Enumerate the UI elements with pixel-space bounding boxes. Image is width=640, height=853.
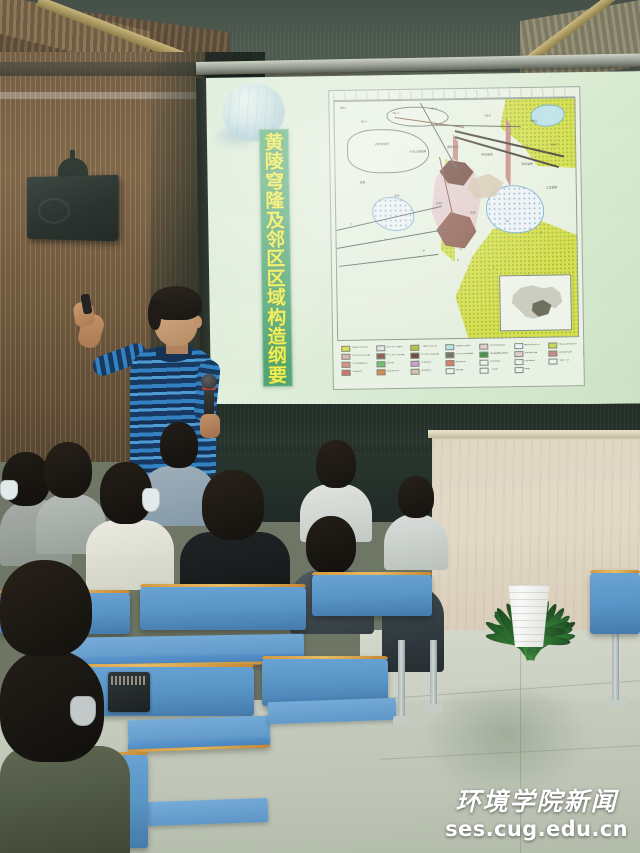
map-legend-item: 侏罗系-三叠系: [376, 345, 407, 351]
map-label: D: [423, 249, 425, 253]
map-legend-item: 正断层: [376, 361, 407, 367]
map-legend-label: 韧性剪切带: [387, 370, 407, 373]
desk-leg-foot: [425, 704, 443, 713]
map-label: Nb-3: [393, 111, 399, 115]
map-legend-item: 不整合界线: [583, 358, 585, 364]
seat-back[interactable]: [590, 570, 640, 634]
audience-head: [398, 476, 434, 518]
audience-member: [86, 462, 174, 584]
map-legend-item: 泥盆系志留系: [445, 344, 476, 350]
map-label: Pt: [506, 219, 509, 223]
speaker-cone-icon: [38, 198, 70, 224]
map-legend-swatch: [548, 351, 557, 357]
map-legend-swatch: [479, 360, 488, 366]
loudspeaker: [27, 175, 118, 242]
map-legend-item: 长城系: [583, 342, 585, 348]
map-label: Nb-4: [430, 107, 436, 111]
map-legend-swatch: [445, 360, 454, 366]
map-label: 神农架背斜: [375, 141, 389, 146]
map-legend-label: 城镇: [525, 368, 545, 371]
map-legend-item: 韧性剪切带: [376, 369, 407, 375]
map-label: 长阳: [436, 201, 442, 206]
map-legend-item: 新元古代花岗岩: [341, 353, 372, 359]
map-legend-label: 古元古代变质岩: [421, 354, 441, 357]
map-legend-label: 背斜轴迹: [490, 361, 510, 364]
map-legend-swatch: [341, 346, 350, 352]
map-label: S: [385, 237, 387, 241]
map-legend-swatch: [445, 368, 454, 374]
map-legend-swatch: [341, 362, 350, 368]
seat-trim: [262, 656, 388, 659]
audience-torso: [384, 514, 448, 570]
desk-leg: [430, 640, 437, 710]
audience-member: [0, 560, 96, 680]
map-legend-item: 变质核杂岩: [514, 351, 545, 357]
map-legend-swatch: [445, 344, 454, 350]
map-legend-label: 构造窗: [456, 369, 476, 372]
map-legend-label: 隐伏断层: [455, 361, 475, 364]
map-legend-item: 背斜轴迹: [479, 359, 510, 365]
map-legend-swatch: [342, 370, 351, 376]
slide-title-char: 隆: [265, 192, 284, 212]
map-legend-swatch: [548, 343, 557, 349]
map-legend-swatch: [410, 353, 419, 359]
map-legend-swatch: [376, 369, 385, 375]
map-legend-item: 推测断层: [411, 368, 442, 374]
map-fault-sw-3: [339, 254, 438, 267]
map-legend-item: 中元古代花岗岩: [376, 353, 407, 359]
map-legend-label: 奥陶系寒武系: [490, 345, 510, 348]
audience-head: [202, 470, 264, 540]
face-mask: [142, 488, 160, 512]
floor-reflection: [420, 690, 590, 800]
desk-surface[interactable]: [148, 798, 269, 826]
map-label: Nb-5: [485, 114, 491, 118]
face-mask: [70, 696, 96, 726]
map-legend-label: 穹隆边界: [352, 371, 372, 374]
map-label: 黄陵背斜: [447, 144, 459, 149]
map-legend-item: 构造窗: [445, 368, 476, 374]
map-legend-swatch: [479, 344, 488, 350]
desk-surface[interactable]: [268, 698, 397, 724]
map-label: K: [340, 106, 342, 110]
map-label: T: [493, 266, 495, 270]
map-legend-label: 泥盆系志留系: [455, 345, 475, 348]
map-legend-item: 震旦系南华系: [514, 343, 545, 349]
map-legend-label: 震旦系南华系: [524, 344, 544, 347]
map-legend-item: 隐伏断层: [445, 360, 476, 366]
slide-title-char: 域: [267, 289, 286, 309]
map-legend-item: 基性超基性岩体: [479, 351, 510, 357]
map-legend-swatch: [548, 359, 557, 365]
map-label: 江汉盆地: [546, 185, 558, 190]
map-legend-item: 奥陶系寒武系: [479, 343, 510, 349]
audience-torso: [86, 520, 174, 590]
map-legend-label: 白垩系-第三系: [352, 347, 372, 350]
map-label: Nb-2: [361, 120, 367, 124]
map-label: 宜昌: [360, 180, 366, 185]
map-legend-label: 青白口系蓟县系: [559, 344, 579, 347]
map-legend-label: 变质核杂岩: [524, 352, 544, 355]
map-label: 秭归盆地: [481, 152, 493, 157]
map-fault-sw-2: [337, 229, 448, 249]
map-legend-label: 混合岩化带: [559, 352, 579, 355]
map-legend-swatch: [376, 361, 385, 367]
map-legend-swatch: [514, 367, 523, 373]
map-label: 大巴山褶皱带: [409, 149, 426, 154]
map-plot-area: Nb-1Nb-2Nb-3Nb-4Nb-5Nb-6Nb-7神农架背斜大巴山褶皱带黄…: [333, 97, 579, 341]
desk-leg-foot: [393, 716, 411, 726]
projection-screen: 黄陵穹隆及邻区区域构造纲要: [206, 71, 640, 410]
map-legend-item: 穹隆边界: [342, 369, 373, 375]
presenter-hair-side: [148, 300, 161, 330]
slide-title-band: 黄陵穹隆及邻区区域构造纲要: [259, 129, 293, 387]
map-legend-item: 逆冲推覆断层: [341, 361, 372, 367]
map-legend-swatch: [376, 353, 385, 359]
map-inset-china: [499, 274, 572, 331]
map-legend-item: 走滑断层: [410, 360, 441, 366]
map-legend-label: 二叠系-石炭系: [421, 346, 441, 349]
map-legend-item: 侵入接触: [583, 350, 585, 356]
map-label: 远安: [394, 193, 400, 198]
map-legend-label: 中元古代花岗岩: [386, 354, 406, 357]
map-legend-label: 新元古代花岗岩: [352, 355, 372, 358]
map-legend-label: 侏罗系-三叠系: [386, 346, 406, 349]
audience-head: [306, 516, 356, 574]
slide-title-char: 要: [268, 367, 287, 387]
audience-head: [0, 560, 92, 656]
map-legend-item: 白垩系-第三系: [341, 345, 372, 351]
map-legend-swatch: [583, 342, 585, 348]
map-legend-label: 地层产状: [559, 360, 579, 363]
map-label: Nb-6: [531, 119, 537, 123]
map-legend-swatch: [341, 354, 350, 360]
map-legend-label: 正断层: [386, 362, 406, 365]
map-legend-swatch: [445, 352, 454, 358]
map-label: Z: [540, 231, 542, 235]
screen-surface: 黄陵穹隆及邻区区域构造纲要: [206, 71, 640, 410]
map-legend-swatch: [514, 359, 523, 365]
seat-trim: [312, 572, 432, 575]
desk-leg: [398, 640, 405, 722]
audience-head: [316, 440, 356, 488]
map-legend-swatch: [411, 369, 420, 375]
map-legend-item: 二叠系-石炭系: [410, 344, 441, 350]
map-legend-label: 飞来峰: [490, 369, 510, 372]
map-legend-swatch: [410, 361, 419, 367]
map-legend-item: 向斜轴迹: [514, 359, 545, 365]
map-legend-swatch: [514, 343, 523, 349]
audience-head: [44, 442, 92, 498]
map-legend-label: 推测断层: [421, 370, 441, 373]
map-legend-swatch: [410, 345, 419, 351]
desk-leg: [612, 628, 619, 700]
map-legend-label: 太古宇变质基底: [455, 353, 475, 356]
map-label: Nb-7: [551, 143, 557, 147]
presenter-ear: [194, 316, 202, 328]
seat-back[interactable]: [140, 584, 306, 630]
map-legend-label: 向斜轴迹: [524, 360, 544, 363]
map-label: €: [350, 222, 352, 226]
map-legend-swatch: [479, 352, 488, 358]
audience-member: [384, 476, 448, 562]
map-legend-item: 太古宇变质基底: [445, 352, 476, 358]
audience-torso: [0, 746, 130, 853]
audience-member: [0, 650, 130, 853]
seat-back[interactable]: [312, 572, 432, 616]
map-label: 当阳盆地: [521, 161, 533, 166]
map-legend-item: 古元古代变质岩: [410, 352, 441, 358]
map-legend-label: 走滑断层: [421, 362, 441, 365]
map-legend-swatch: [514, 351, 523, 357]
map-legend: 白垩系-第三系侏罗系-三叠系二叠系-石炭系泥盆系志留系奥陶系寒武系震旦系南华系青…: [337, 339, 580, 387]
map-legend-item: 飞来峰: [480, 367, 511, 373]
map-legend-swatch: [480, 368, 489, 374]
map-legend-swatch: [583, 350, 585, 356]
seat-trim: [590, 570, 640, 573]
map-legend-item: 混合岩化带: [548, 350, 579, 356]
map-legend-item: 城镇: [514, 367, 545, 373]
map-legend-label: 基性超基性岩体: [490, 353, 510, 356]
map-legend-item: 地层产状: [548, 358, 579, 364]
microphone-head-icon: [201, 374, 217, 389]
map-legend-label: 逆冲推覆断层: [352, 363, 372, 366]
map-label: 巴东: [470, 210, 476, 215]
map-legend-row: 穹隆边界韧性剪切带推测断层构造窗飞来峰城镇: [342, 366, 576, 375]
lecture-hall-photo: 黄陵穹隆及邻区区域构造纲要: [0, 0, 640, 853]
map-label: J: [527, 273, 528, 277]
map-legend-swatch: [376, 345, 385, 351]
map-legend-swatch: [583, 358, 585, 364]
seat-trim: [140, 584, 306, 587]
map-label: P: [457, 258, 459, 262]
face-mask: [0, 480, 18, 500]
geological-map: Nb-1Nb-2Nb-3Nb-4Nb-5Nb-6Nb-7神农架背斜大巴山褶皱带黄…: [328, 86, 585, 390]
map-legend-item: 青白口系蓟县系: [548, 342, 579, 348]
